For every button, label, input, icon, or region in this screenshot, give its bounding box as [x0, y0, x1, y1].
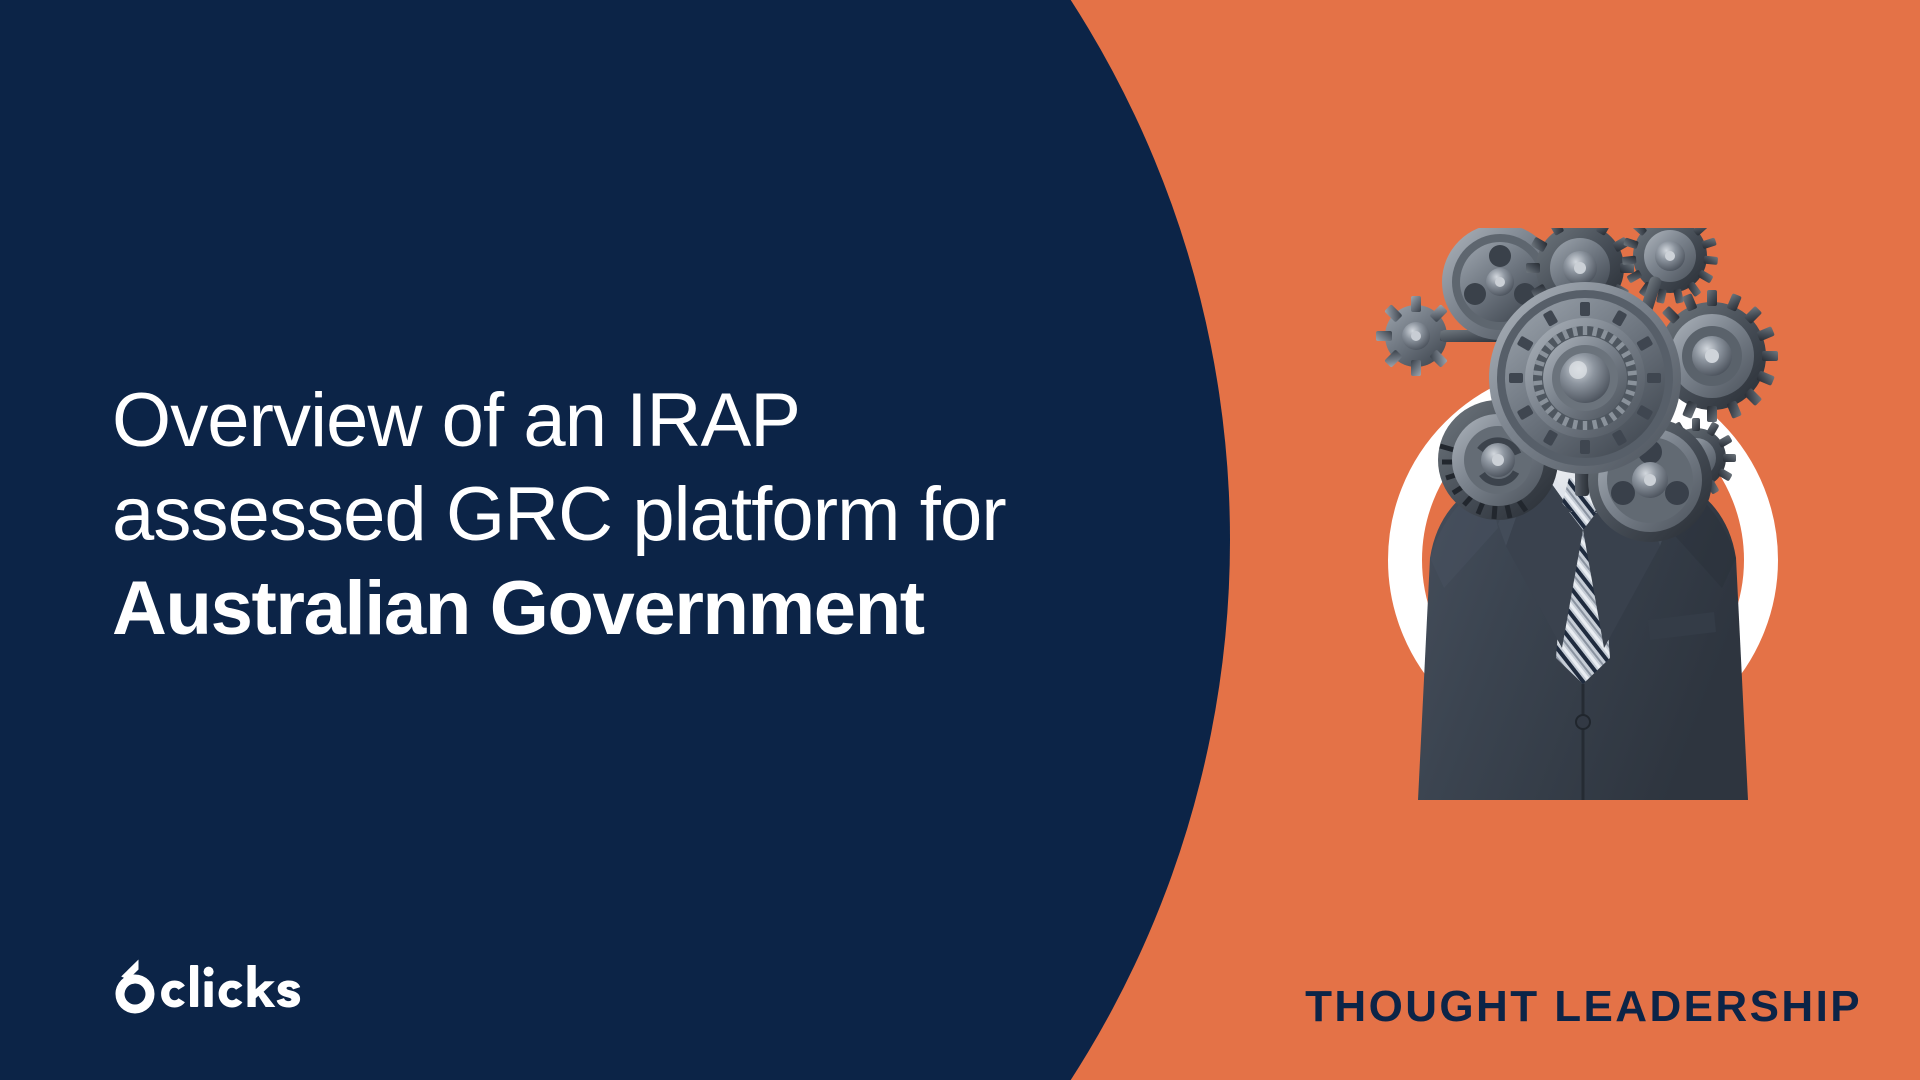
hero-illustration [1348, 228, 1818, 800]
sixclicks-logo-icon [108, 954, 308, 1018]
headline-line-2: assessed GRC platform for [112, 468, 1232, 562]
gear-central-main [1489, 282, 1681, 474]
category-label: THOUGHT LEADERSHIP [1305, 982, 1862, 1032]
page-title: Overview of an IRAP assessed GRC platfor… [112, 374, 1232, 657]
headline-line-1: Overview of an IRAP [112, 374, 1232, 468]
headline-line-3: Australian Government [112, 562, 1232, 656]
slide-canvas: Overview of an IRAP assessed GRC platfor… [0, 0, 1920, 1080]
brand-logo[interactable]: 6clicks [108, 954, 308, 1018]
